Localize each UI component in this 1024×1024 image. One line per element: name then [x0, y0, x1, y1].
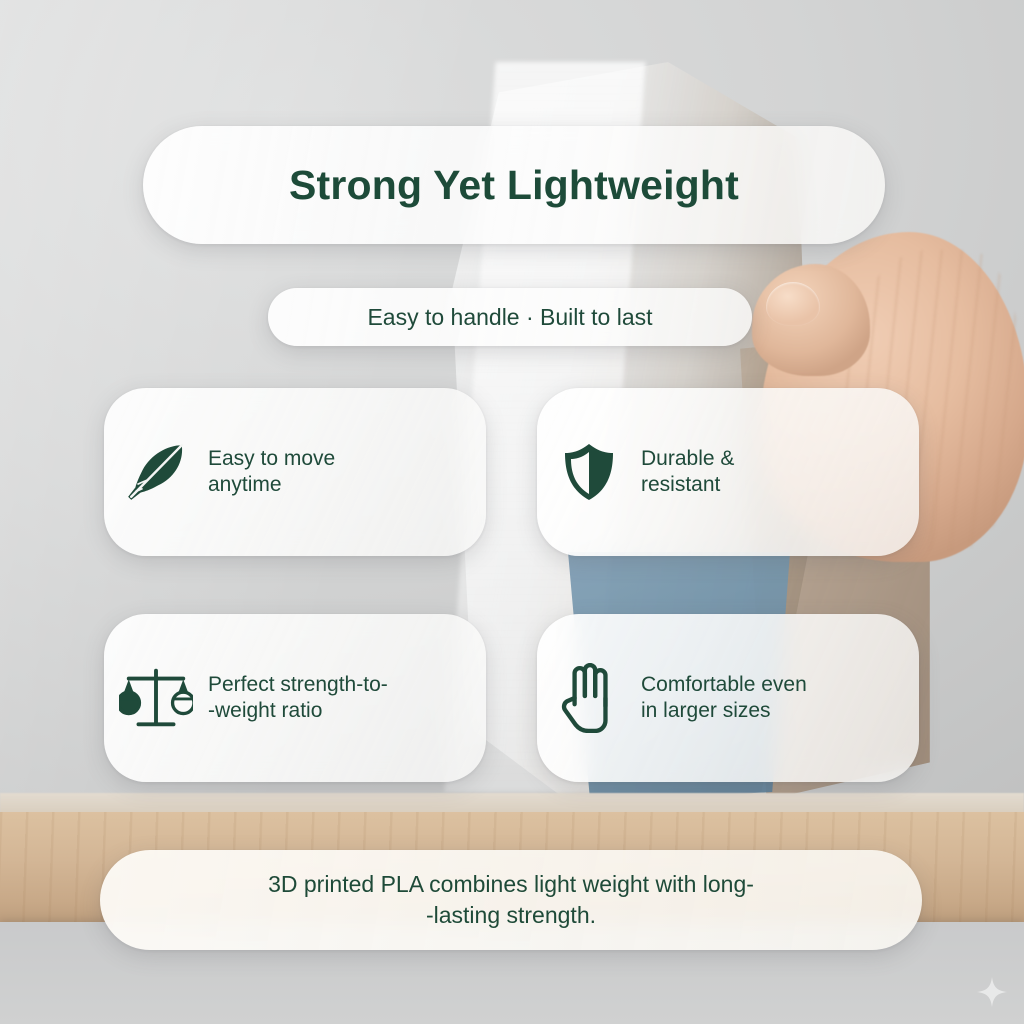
- sparkle-icon: [977, 977, 1007, 1007]
- footer-line-2: -lasting strength.: [268, 900, 754, 931]
- footer-text: 3D printed PLA combines light weight wit…: [268, 869, 754, 931]
- thumbnail-photo: [766, 282, 820, 326]
- footer-line-1: 3D printed PLA combines light weight wit…: [268, 869, 754, 900]
- feature-card-text: Perfect strength-to- -weight ratio: [208, 672, 404, 725]
- balance-scale-icon: [104, 614, 208, 782]
- feature-line-1: Easy to move: [208, 446, 335, 472]
- feature-card-comfortable: Comfortable even in larger sizes: [537, 614, 919, 782]
- infographic-canvas: Strong Yet Lightweight Easy to handle · …: [0, 0, 1024, 1024]
- page-subtitle: Easy to handle · Built to last: [367, 304, 652, 331]
- feature-card-easy-to-move: Easy to move anytime: [104, 388, 486, 556]
- shield-icon: [537, 388, 641, 556]
- feature-card-text: Durable & resistant: [641, 446, 750, 499]
- subtitle-banner: Easy to handle · Built to last: [268, 288, 752, 346]
- feather-icon: [104, 388, 208, 556]
- feature-card-text: Comfortable even in larger sizes: [641, 672, 823, 725]
- title-banner: Strong Yet Lightweight: [143, 126, 885, 244]
- feature-line-1: Comfortable even: [641, 672, 807, 698]
- feature-line-2: in larger sizes: [641, 698, 807, 724]
- feature-card-text: Easy to move anytime: [208, 446, 351, 499]
- open-hand-icon: [537, 614, 641, 782]
- feature-line-1: Perfect strength-to-: [208, 672, 388, 698]
- feature-line-1: Durable &: [641, 446, 734, 472]
- feature-line-2: resistant: [641, 472, 734, 498]
- feature-card-durable: Durable & resistant: [537, 388, 919, 556]
- page-title: Strong Yet Lightweight: [289, 162, 739, 209]
- footer-banner: 3D printed PLA combines light weight wit…: [100, 850, 922, 950]
- feature-line-2: -weight ratio: [208, 698, 388, 724]
- feature-card-strength-ratio: Perfect strength-to- -weight ratio: [104, 614, 486, 782]
- feature-line-2: anytime: [208, 472, 335, 498]
